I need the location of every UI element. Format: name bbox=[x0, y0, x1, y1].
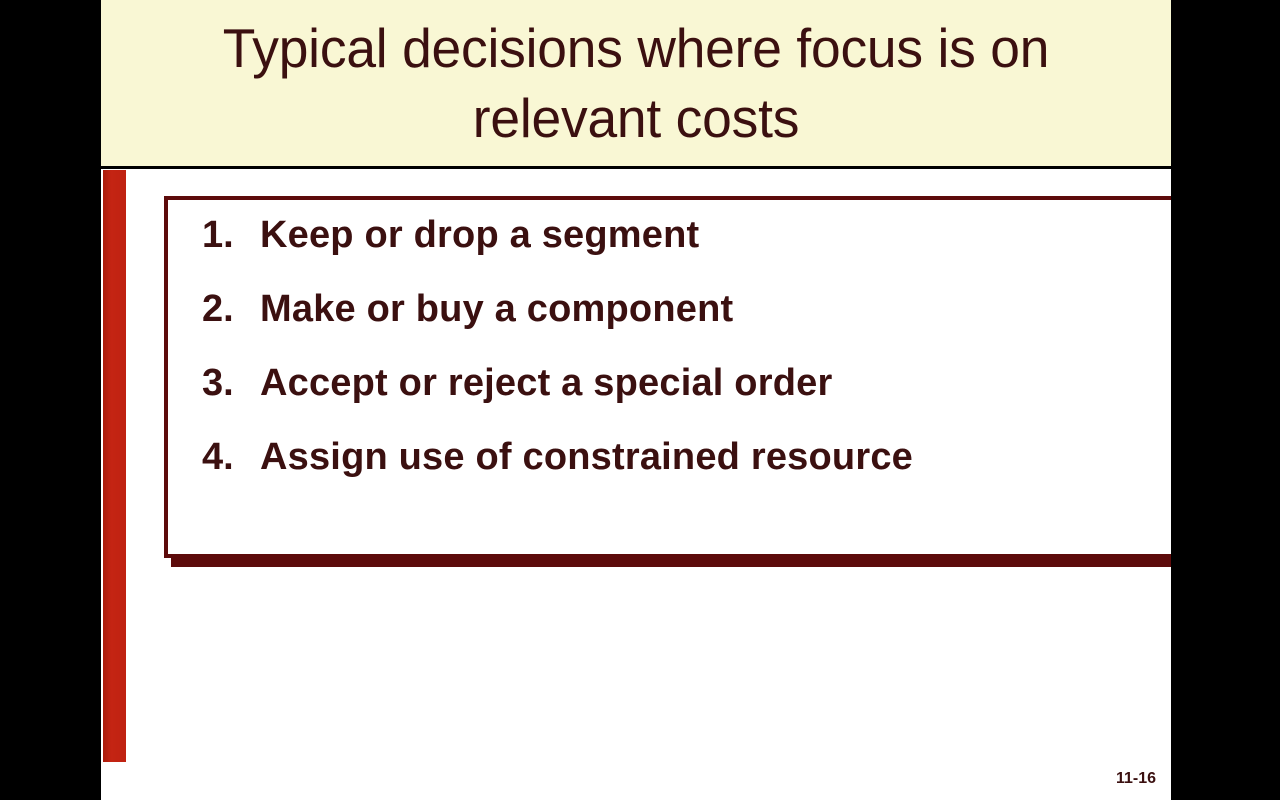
list-item-number: 3. bbox=[202, 364, 260, 402]
list-item: 1. Keep or drop a segment bbox=[168, 216, 1171, 254]
list-item: 4. Assign use of constrained resource bbox=[168, 438, 1171, 476]
slide-canvas: Typical decisions where focus is on rele… bbox=[101, 0, 1171, 800]
list-item-label: Make or buy a component bbox=[260, 290, 733, 328]
list-item: 3. Accept or reject a special order bbox=[168, 364, 1171, 402]
list-item-label: Keep or drop a segment bbox=[260, 216, 699, 254]
page-title: Typical decisions where focus is on rele… bbox=[170, 13, 1101, 154]
left-accent-bar bbox=[103, 170, 126, 762]
slide-stage: Typical decisions where focus is on rele… bbox=[0, 0, 1280, 800]
list-item-number: 4. bbox=[202, 438, 260, 476]
page-number: 11-16 bbox=[1116, 770, 1156, 788]
list-item: 2. Make or buy a component bbox=[168, 290, 1171, 328]
decision-list-box: 1. Keep or drop a segment 2. Make or buy… bbox=[164, 196, 1171, 558]
list-item-label: Assign use of constrained resource bbox=[260, 438, 913, 476]
list-item-number: 1. bbox=[202, 216, 260, 254]
list-item-label: Accept or reject a special order bbox=[260, 364, 832, 402]
title-band: Typical decisions where focus is on rele… bbox=[101, 0, 1171, 169]
letterbox-right bbox=[1171, 0, 1280, 800]
letterbox-left bbox=[0, 0, 101, 800]
list-item-number: 2. bbox=[202, 290, 260, 328]
